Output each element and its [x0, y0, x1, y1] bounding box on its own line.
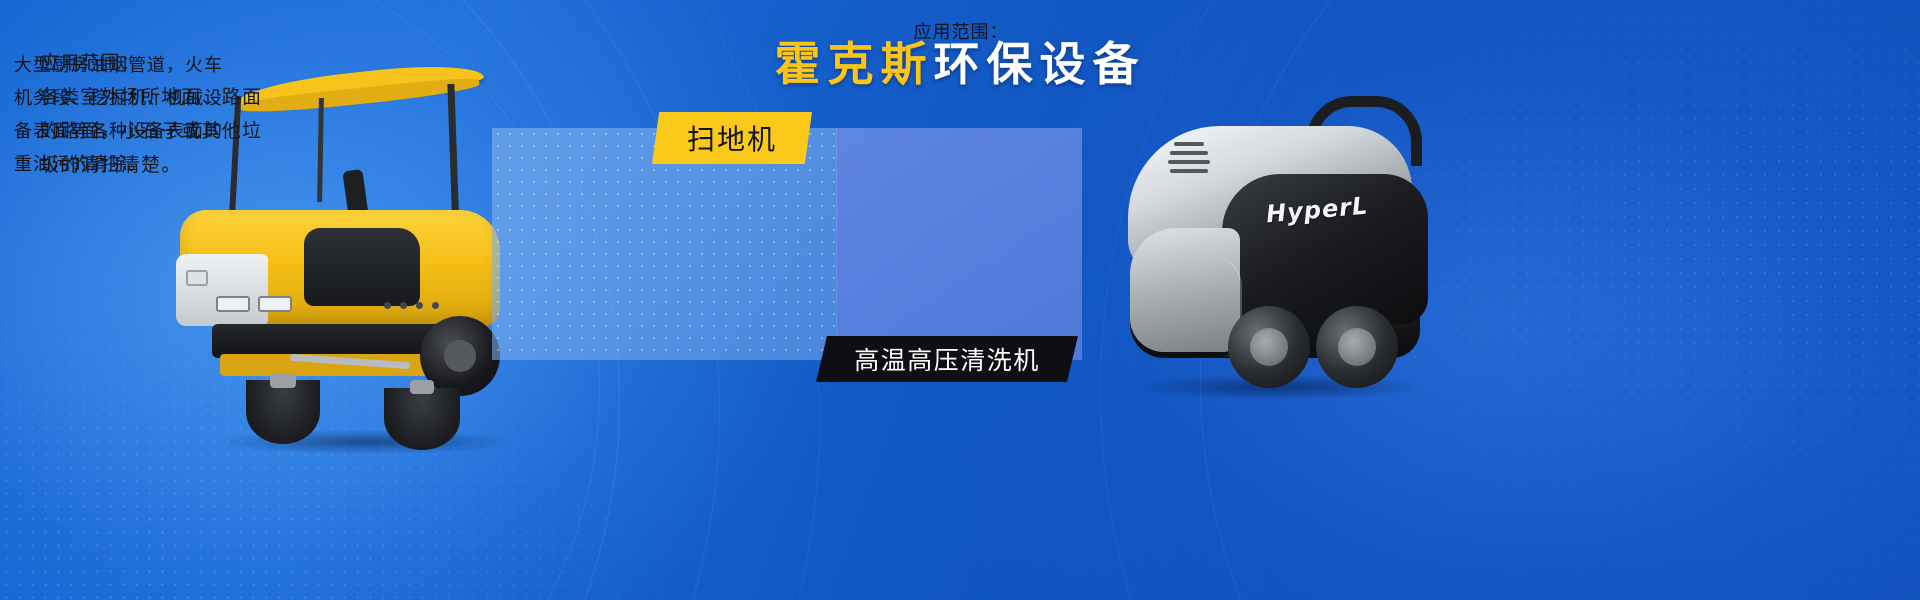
washer-hubcap-front [1250, 328, 1288, 366]
sweeper-vent-dots [384, 294, 454, 302]
sweeper-brush-hub-right [410, 380, 434, 394]
promo-banner: 霍克斯环保设备 应用范围： 各类室外场所地面、路面 的路面，小石子或其他垃 [0, 0, 1920, 600]
washer-product-image: HyperL [1090, 78, 1450, 418]
washer-vent-grille-icon [1166, 142, 1212, 182]
washer-description-line-1: 大型厨房油烟管道，火车 [14, 49, 1908, 82]
sweeper-rear-hubcap [444, 340, 476, 372]
sweeper-chassis [212, 324, 452, 358]
washer-description-line-4: 重油污的清除。 [14, 148, 1908, 181]
sweeper-side-brush-right [384, 388, 460, 450]
washer-description-line-2: 机务段、挖掘机、机械设 [14, 82, 1908, 115]
sweeper-side-brush-left [246, 380, 320, 444]
sweeper-brush-hub-left [270, 374, 296, 388]
sweeper-hopper-slot [186, 270, 208, 286]
sweeper-headlamp-left [216, 296, 250, 312]
washer-label[interactable]: 高温高压清洗机 [816, 336, 1078, 382]
washer-description: 应用范围： 大型厨房油烟管道，火车 机务段、挖掘机、机械设 备表面等各种设备表面… [14, 16, 1908, 181]
sweeper-hopper [176, 254, 268, 326]
washer-hubcap-rear [1338, 328, 1376, 366]
washer-scope-heading: 应用范围： [14, 16, 1908, 49]
washer-description-line-3: 备表面等各种设备表面的 [14, 115, 1908, 148]
sweeper-headlamp-right [258, 296, 292, 312]
